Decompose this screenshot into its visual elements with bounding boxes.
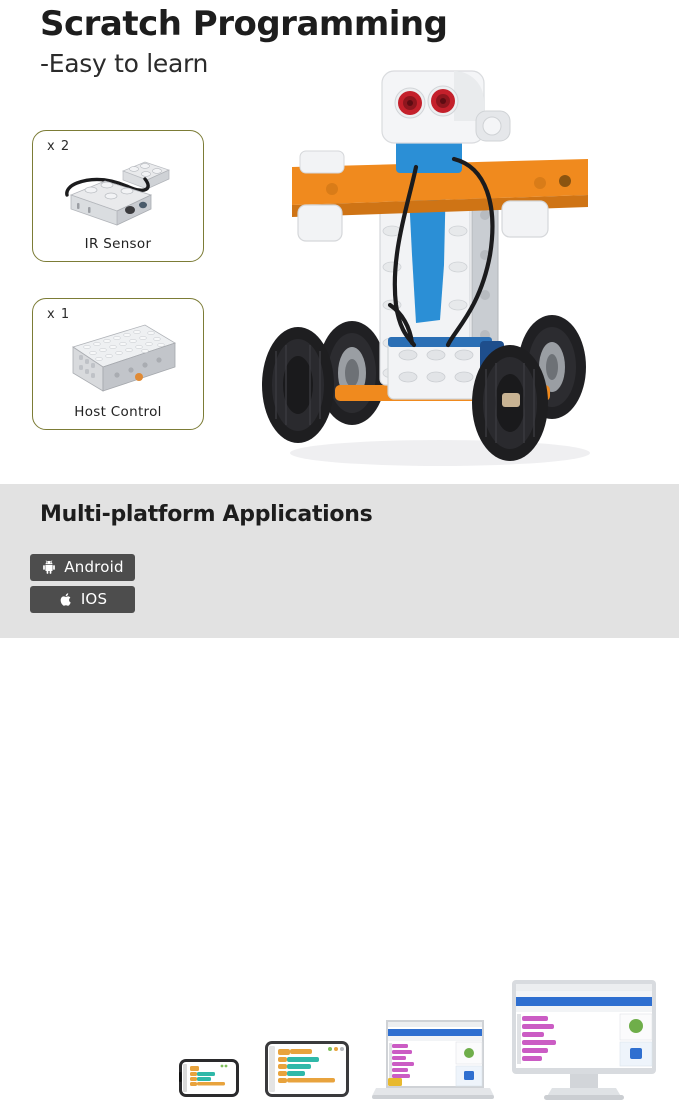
badge-label: IOS [81,592,107,607]
page-title: Scratch Programming [40,0,660,46]
android-icon [41,559,57,576]
wheel-front-left [262,327,334,443]
part-label: IR Sensor [33,236,203,252]
robot-illustration [240,55,640,475]
apple-icon [58,591,74,608]
device-laptop [372,1014,494,1102]
device-phone [178,1058,240,1098]
part-card-host-control: x 1 [32,298,204,430]
device-desktop-monitor [508,978,660,1100]
wheel-front-right [472,345,548,461]
badge-android[interactable]: Android [30,554,135,581]
platform-section-title: Multi-platform Applications [40,502,372,527]
badge-ios[interactable]: IOS [30,586,135,613]
ir-sensor-brick-icon [33,149,205,237]
robot-head [382,71,510,143]
part-label: Host Control [33,404,203,420]
host-control-brick-icon [33,317,205,405]
device-tablet [264,1040,350,1098]
badge-label: Android [64,560,123,575]
part-card-ir-sensor: x 2 IR Senso [32,130,204,262]
